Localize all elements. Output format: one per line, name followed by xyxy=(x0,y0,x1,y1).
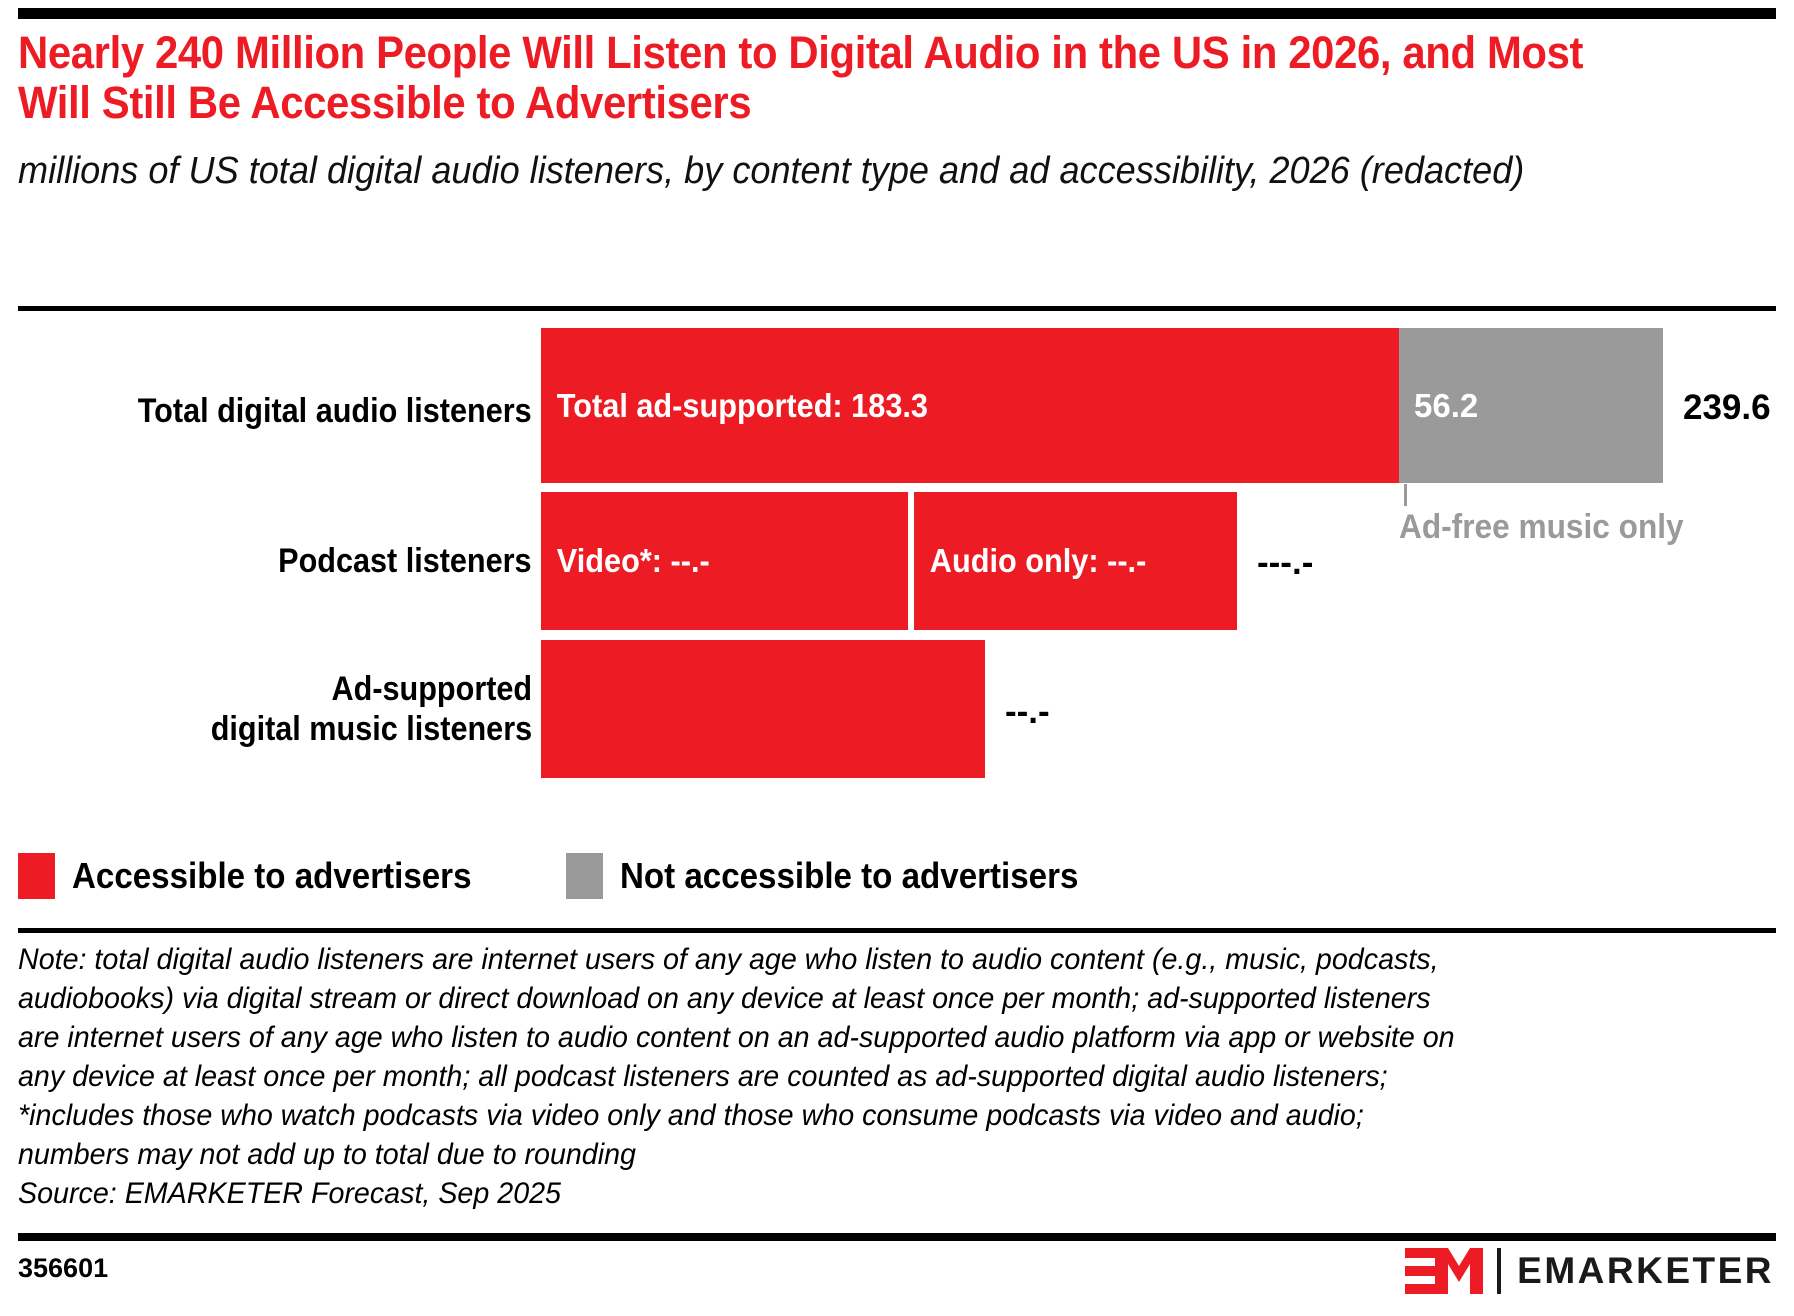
legend-label-not-accessible: Not accessible to advertisers xyxy=(620,855,1078,897)
bar-segment-label-podcast-audio-only: Audio only: --.- xyxy=(914,542,1146,580)
row-total-label-podcast: ---.- xyxy=(1257,543,1313,583)
bar-segment-label-podcast-video: Video*: --.- xyxy=(541,542,710,580)
annotation-tick-ad-free xyxy=(1404,484,1407,506)
chart-legend: Accessible to advertisers Not accessible… xyxy=(18,853,1118,899)
legend-item-accessible[interactable]: Accessible to advertisers xyxy=(18,853,506,899)
note-line-2: audiobooks) via digital stream or direct… xyxy=(18,979,1680,1018)
note-line-3: are internet users of any age who listen… xyxy=(18,1018,1680,1057)
note-line-5: *includes those who watch podcasts via v… xyxy=(18,1096,1680,1135)
note-line-1: Note: total digital audio listeners are … xyxy=(18,940,1680,979)
bar-segment-total-ad-supported[interactable]: Total ad-supported: 183.3 xyxy=(541,328,1399,483)
emarketer-logo[interactable]: EMARKETER xyxy=(1405,1248,1774,1294)
category-label-ad-supported-music: Ad-supported digital music listeners xyxy=(211,640,532,778)
legend-label-accessible: Accessible to advertisers xyxy=(72,855,471,897)
row-total-label-total-digital-audio: 239.6 xyxy=(1683,388,1771,428)
footer-rule xyxy=(18,1233,1776,1241)
bar-segment-podcast-video[interactable]: Video*: --.- xyxy=(541,492,908,630)
m-glyph-icon xyxy=(1435,1248,1483,1294)
note-source: Source: EMARKETER Forecast, Sep 2025 xyxy=(18,1174,1680,1213)
bar-segment-podcast-audio-only[interactable]: Audio only: --.- xyxy=(914,492,1237,630)
bar-segment-ad-supported-music[interactable] xyxy=(541,640,985,778)
chart-page: Nearly 240 Million People Will Listen to… xyxy=(0,0,1794,1316)
row-total-label-ad-supported-music: --.- xyxy=(1005,692,1050,732)
note-line-6: numbers may not add up to total due to r… xyxy=(18,1135,1680,1174)
category-label-total-digital-audio: Total digital audio listeners xyxy=(138,338,532,484)
em-monogram-icon xyxy=(1405,1248,1483,1294)
emarketer-wordmark: EMARKETER xyxy=(1517,1250,1774,1292)
legend-swatch-accessible xyxy=(18,853,55,899)
note-block: Note: total digital audio listeners are … xyxy=(18,940,1680,1213)
note-line-4: any device at least once per month; all … xyxy=(18,1057,1680,1096)
bar-segment-ad-free[interactable]: 56.2 xyxy=(1399,328,1663,483)
legend-item-not-accessible[interactable]: Not accessible to advertisers xyxy=(566,853,1118,899)
annotation-ad-free-music-only: Ad-free music only xyxy=(1399,508,1684,547)
category-label-podcast: Podcast listeners xyxy=(279,492,532,630)
bar-segment-label-ad-free: 56.2 xyxy=(1399,387,1478,425)
logo-divider xyxy=(1497,1248,1501,1294)
chart-id: 356601 xyxy=(18,1253,108,1284)
bar-segment-label-total-ad-supported: Total ad-supported: 183.3 xyxy=(541,387,928,425)
legend-swatch-not-accessible xyxy=(566,853,603,899)
note-top-rule xyxy=(18,928,1776,933)
